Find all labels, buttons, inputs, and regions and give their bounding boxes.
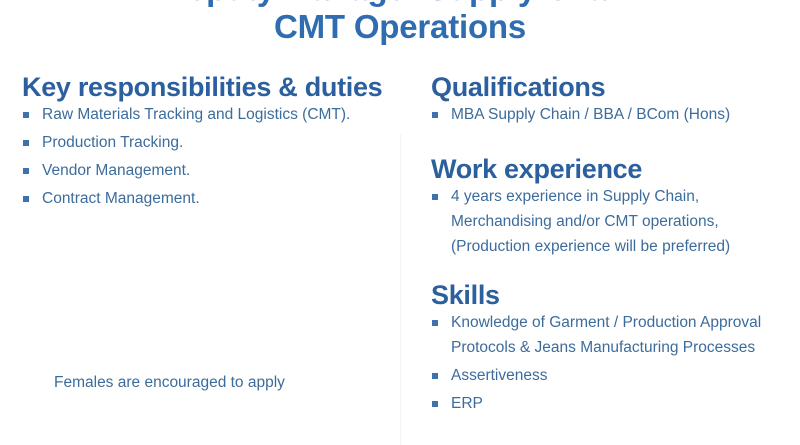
list-item: Vendor Management. bbox=[22, 158, 386, 183]
list-item-label: 4 years experience in Supply Chain, Merc… bbox=[451, 188, 730, 255]
list-item: Raw Materials Tracking and Logistics (CM… bbox=[22, 102, 386, 127]
list-item-label: Vendor Management. bbox=[42, 162, 190, 179]
work-experience-heading: Work experience bbox=[431, 154, 790, 184]
list-item-label: ERP bbox=[451, 395, 483, 412]
square-bullet-icon bbox=[432, 112, 438, 118]
qualifications-heading: Qualifications bbox=[431, 72, 790, 102]
list-item: ERP bbox=[431, 391, 790, 416]
square-bullet-icon bbox=[23, 140, 29, 146]
list-item: Production Tracking. bbox=[22, 130, 386, 155]
key-responsibilities-heading: Key responsibilities & duties bbox=[22, 72, 386, 102]
list-item-label: Contract Management. bbox=[42, 190, 200, 207]
square-bullet-icon bbox=[432, 194, 438, 200]
footnote-text: Females are encouraged to apply bbox=[54, 372, 285, 394]
list-item: Knowledge of Garment / Production Approv… bbox=[431, 310, 790, 360]
list-item: Contract Management. bbox=[22, 186, 386, 211]
qualifications-list: MBA Supply Chain / BBA / BCom (Hons) bbox=[431, 102, 790, 127]
list-item-label: Assertiveness bbox=[451, 367, 547, 384]
list-item: Assertiveness bbox=[431, 363, 790, 388]
square-bullet-icon bbox=[432, 320, 438, 326]
square-bullet-icon bbox=[23, 196, 29, 202]
list-item-label: Knowledge of Garment / Production Approv… bbox=[451, 314, 761, 356]
section-spacer bbox=[431, 262, 790, 280]
square-bullet-icon bbox=[23, 112, 29, 118]
slide-title-line-2: CMT Operations bbox=[0, 8, 800, 46]
list-item: MBA Supply Chain / BBA / BCom (Hons) bbox=[431, 102, 790, 127]
list-item: 4 years experience in Supply Chain, Merc… bbox=[431, 184, 790, 259]
section-spacer bbox=[431, 130, 790, 154]
square-bullet-icon bbox=[432, 401, 438, 407]
key-responsibilities-list: Raw Materials Tracking and Logistics (CM… bbox=[22, 102, 386, 211]
list-item-label: Raw Materials Tracking and Logistics (CM… bbox=[42, 106, 350, 123]
slide-title-line-1: Deputy Manager Supply Chain bbox=[0, 0, 800, 8]
job-posting-slide: Deputy Manager Supply Chain CMT Operatio… bbox=[0, 0, 800, 445]
right-column: Qualifications MBA Supply Chain / BBA / … bbox=[400, 72, 800, 445]
left-column: Key responsibilities & duties Raw Materi… bbox=[0, 72, 400, 445]
skills-list: Knowledge of Garment / Production Approv… bbox=[431, 310, 790, 416]
square-bullet-icon bbox=[23, 168, 29, 174]
slide-title: Deputy Manager Supply Chain CMT Operatio… bbox=[0, 0, 800, 46]
square-bullet-icon bbox=[432, 373, 438, 379]
list-item-label: MBA Supply Chain / BBA / BCom (Hons) bbox=[451, 106, 730, 123]
content-columns: Key responsibilities & duties Raw Materi… bbox=[0, 72, 800, 445]
work-experience-list: 4 years experience in Supply Chain, Merc… bbox=[431, 184, 790, 259]
skills-heading: Skills bbox=[431, 280, 790, 310]
list-item-label: Production Tracking. bbox=[42, 134, 183, 151]
